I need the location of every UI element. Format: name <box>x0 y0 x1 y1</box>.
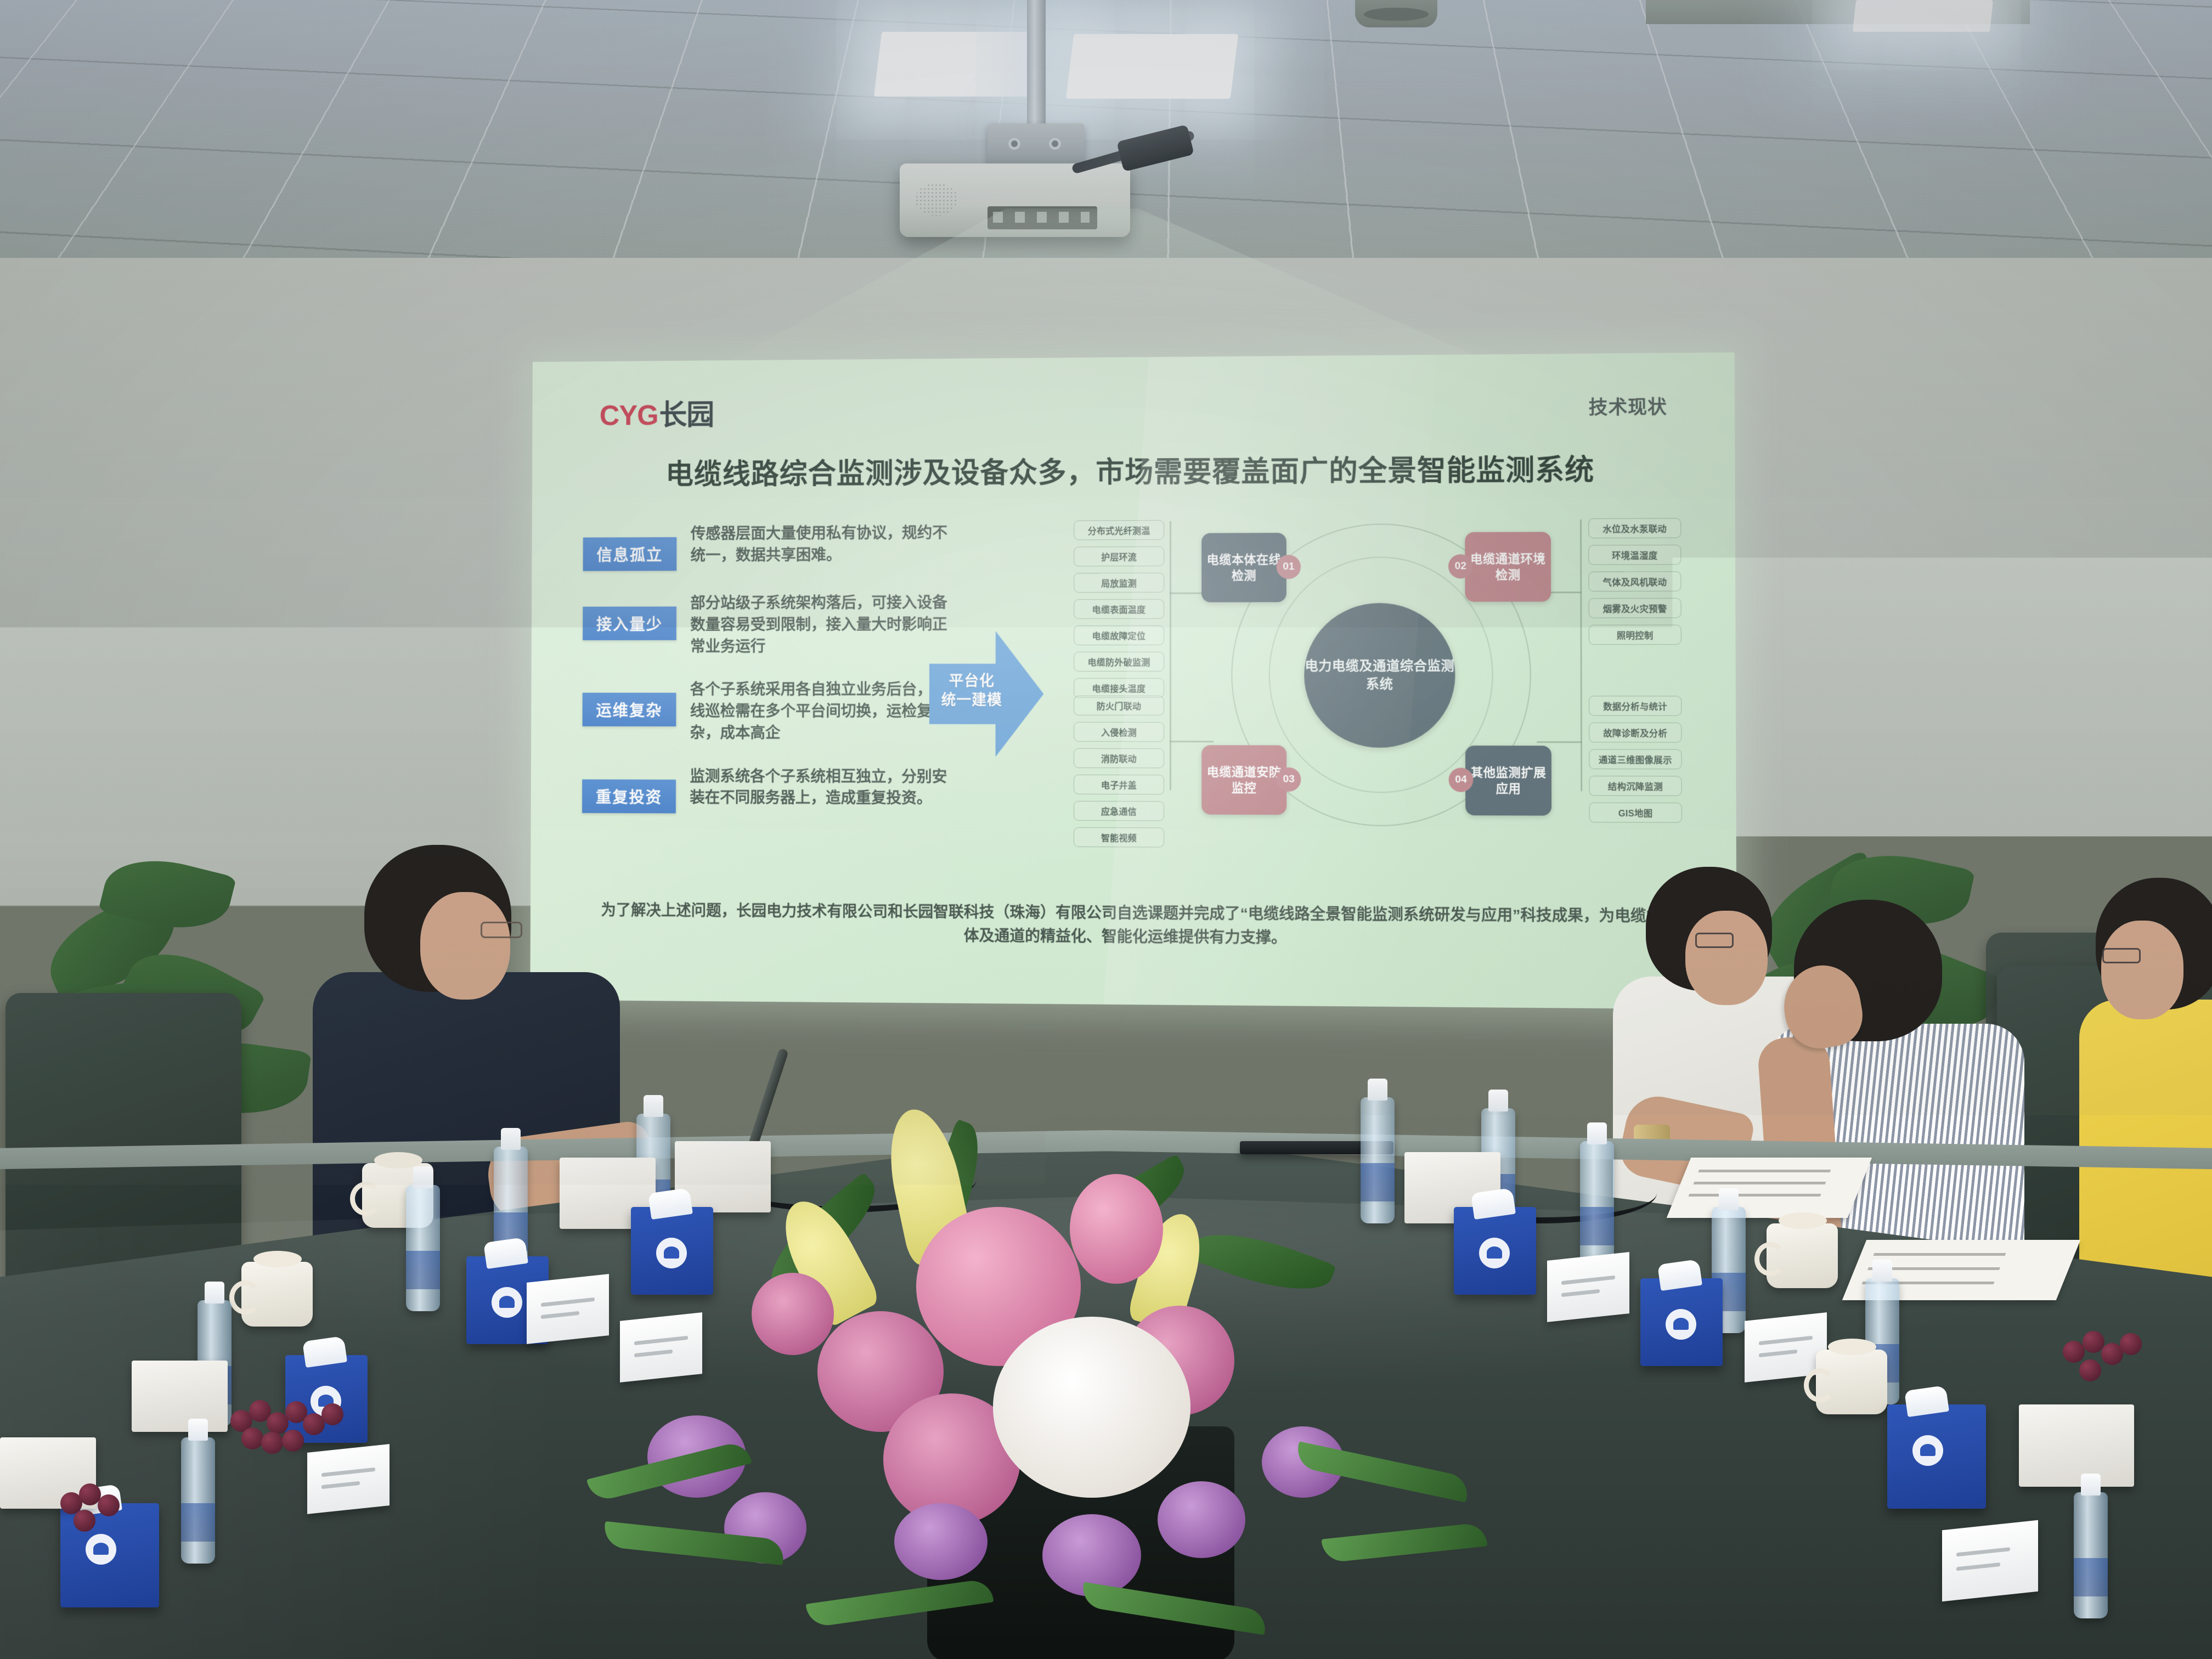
attendee-face <box>2101 921 2183 1019</box>
tag-item: 电缆表面温度 <box>1074 599 1164 619</box>
tag-item: 防火门联动 <box>1074 696 1164 715</box>
tag-item: 入侵检测 <box>1074 722 1164 742</box>
tag-item: 烟雾及火灾预警 <box>1589 598 1681 618</box>
tag-item: 通道三维图像展示 <box>1589 749 1681 769</box>
water-bottle <box>406 1185 440 1311</box>
tag-group-left-2: 防火门联动 入侵检测 消防联动 电子井盖 应急通信 智能视频 <box>1074 696 1164 854</box>
hub-node-number-04: 04 <box>1449 768 1474 792</box>
snack-box <box>132 1361 228 1432</box>
tag-item: 分布式光纤测温 <box>1074 520 1164 540</box>
logo-chinese-text: 长园 <box>659 399 714 431</box>
tag-item: 故障诊断及分析 <box>1589 723 1681 743</box>
connector-line <box>1170 521 1171 790</box>
person-attendee-yellow-shirt <box>2079 878 2212 1328</box>
issue-text: 传感器层面大量使用私有协议，规约不统一，数据共享困难。 <box>691 522 961 566</box>
document-papers <box>1667 1158 1872 1218</box>
grape-bowl <box>60 1481 187 1547</box>
tag-item: 应急通信 <box>1074 801 1164 821</box>
grape-bowl <box>230 1393 357 1459</box>
tag-item: 电缆防外破监测 <box>1074 652 1164 672</box>
issue-text: 监测系统各个子系统相互独立，分别安装在不同服务器上，造成重复投资。 <box>690 765 960 809</box>
projector-port-panel <box>988 206 1097 229</box>
issue-item: 信息孤立 传感器层面大量使用私有协议，规约不统一，数据共享困难。 <box>583 522 971 571</box>
tag-group-right-1: 水位及水泵联动 环境温湿度 气体及风机联动 烟雾及火灾预警 照明控制 <box>1588 518 1681 651</box>
tea-cup <box>1767 1223 1838 1288</box>
tag-item: 结构沉降监测 <box>1589 776 1681 796</box>
tag-item: 数据分析与统计 <box>1589 696 1681 716</box>
water-bottle <box>2074 1492 2108 1618</box>
tag-item: 护层环流 <box>1074 546 1164 566</box>
tag-item: 智能视频 <box>1074 827 1164 848</box>
issue-item: 重复投资 监测系统各个子系统相互独立，分别安装在不同服务器上，造成重复投资。 <box>582 765 970 814</box>
water-bottle <box>1580 1141 1614 1267</box>
projector-speaker-grille <box>915 183 958 216</box>
tag-item: 局放监测 <box>1074 573 1164 592</box>
snack-box <box>2019 1404 2134 1487</box>
ceiling-vent <box>1355 0 1437 27</box>
slide-footer-paragraph: 为了解决上述问题，长园电力技术有限公司和长园智联科技（珠海）有限公司自选课题并完… <box>600 898 1663 952</box>
hub-node-number-01: 01 <box>1277 555 1301 579</box>
tea-cup <box>241 1262 313 1327</box>
grape-bowl <box>2063 1328 2189 1393</box>
hub-node-03: 电缆通道安防监控 <box>1201 745 1286 815</box>
ceiling-light-panel <box>1853 0 1993 32</box>
fern-leaf <box>1322 1522 1488 1563</box>
slide-title: 电缆线路综合监测涉及设备众多，市场需要覆盖面广的全景智能监测系统 <box>532 445 1735 493</box>
issue-text: 部分站级子系统架构落后，可接入设备数量容易受到限制，接入量大时影响正常业务运行 <box>690 592 960 657</box>
tag-item: 消防联动 <box>1074 748 1164 768</box>
tag-item: 环境温湿度 <box>1588 545 1681 565</box>
hub-node-number-02: 02 <box>1448 554 1473 578</box>
hub-node-number-03: 03 <box>1277 768 1301 792</box>
issue-badge: 接入量少 <box>583 607 676 640</box>
hub-node-01: 电缆本体在线检测 <box>1201 533 1286 602</box>
orchid-purple <box>894 1503 988 1580</box>
tissue-box <box>1887 1404 1986 1509</box>
ceiling-light-panel <box>1066 34 1238 99</box>
tag-item: 照明控制 <box>1589 625 1681 645</box>
glasses-icon <box>2102 948 2141 963</box>
glasses-icon <box>1695 933 1734 948</box>
tag-item: 水位及水泵联动 <box>1588 518 1681 538</box>
tag-item: 电子井盖 <box>1074 775 1164 794</box>
hub-node-04: 其他监测扩展应用 <box>1465 746 1551 816</box>
tissue-box <box>1640 1278 1723 1366</box>
tag-item: 电缆接头温度 <box>1074 678 1164 698</box>
lily-white <box>993 1317 1190 1498</box>
ceiling-light-panel <box>874 32 1046 97</box>
tag-item: 气体及风机联动 <box>1588 571 1681 591</box>
projector-mount-pole <box>1027 0 1046 136</box>
hub-node-02: 电缆通道环境检测 <box>1465 532 1551 601</box>
arrow-label-line1: 平台化 <box>934 672 1010 690</box>
connector-line <box>1580 520 1582 791</box>
issue-item: 运维复杂 各个子系统采用各自独立业务后台，在线巡检需在多个平台间切换，运检复杂，… <box>582 679 970 744</box>
company-logo: CYG长园 <box>600 392 714 433</box>
slide-section-label: 技术现状 <box>1589 392 1667 419</box>
hub-diagram: 电力电缆及通道综合监测系统 电缆本体在线检测 01 电缆通道环境检测 02 电缆… <box>1198 520 1565 830</box>
logo-latin-text: CYG <box>600 400 658 432</box>
issue-item: 接入量少 部分站级子系统架构落后，可接入设备数量容易受到限制，接入量大时影响正常… <box>583 592 970 657</box>
rose-pink <box>752 1273 834 1355</box>
projector <box>900 163 1130 237</box>
floral-centerpiece <box>587 1075 1580 1659</box>
glasses-icon <box>481 922 522 938</box>
issue-badge: 重复投资 <box>582 779 676 813</box>
projection-screen: CYG长园 技术现状 电缆线路综合监测涉及设备众多，市场需要覆盖面广的全景智能监… <box>530 352 1736 1009</box>
lily-pink <box>1070 1174 1163 1284</box>
issue-text: 各个子系统采用各自独立业务后台，在线巡检需在多个平台间切换，运检复杂，成本高企 <box>690 679 961 744</box>
tag-item: GIS地图 <box>1589 803 1682 823</box>
arrow-label-line2: 统一建模 <box>934 690 1010 709</box>
tag-item: 电缆故障定位 <box>1074 625 1164 645</box>
slide: CYG长园 技术现状 电缆线路综合监测涉及设备众多，市场需要覆盖面广的全景智能监… <box>530 352 1736 1009</box>
tag-group-left-1: 分布式光纤测温 护层环流 局放监测 电缆表面温度 电缆故障定位 电缆防外破监测 … <box>1074 520 1164 704</box>
hub-center-label: 电力电缆及通道综合监测系统 <box>1304 603 1455 748</box>
name-card-tent <box>1942 1520 2038 1601</box>
issue-badge: 信息孤立 <box>583 537 677 571</box>
presenter-face <box>420 892 510 1000</box>
flower-foliage <box>1187 1217 1336 1307</box>
conference-room-scene: CYG长园 技术现状 电缆线路综合监测涉及设备众多，市场需要覆盖面广的全景智能监… <box>0 0 2212 1659</box>
tag-group-right-2: 数据分析与统计 故障诊断及分析 通道三维图像展示 结构沉降监测 GIS地图 <box>1589 696 1682 830</box>
orchid-purple <box>1158 1481 1245 1558</box>
issue-badge: 运维复杂 <box>583 693 676 726</box>
arrow-label: 平台化 统一建模 <box>934 672 1010 709</box>
transition-arrow: 平台化 统一建模 <box>929 631 1044 757</box>
issues-list: 信息孤立 传感器层面大量使用私有协议，规约不统一，数据共享困难。 接入量少 部分… <box>582 522 971 836</box>
tea-cup <box>1816 1350 1887 1414</box>
